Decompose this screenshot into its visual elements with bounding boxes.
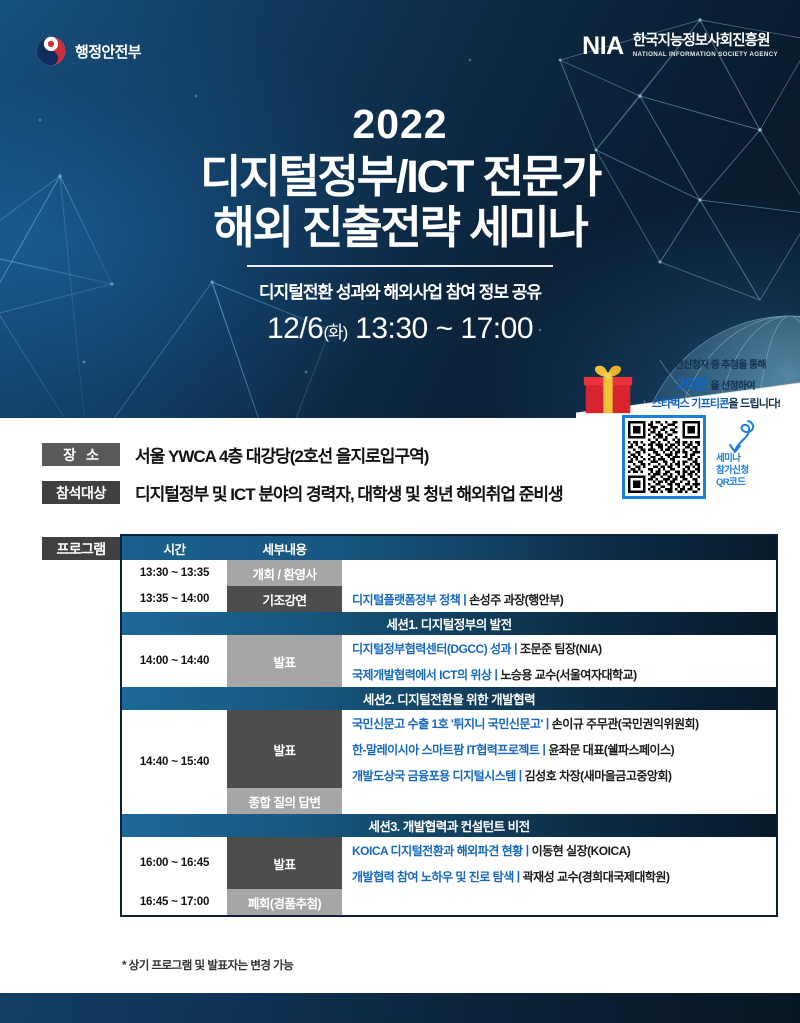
taeguk-icon: [36, 36, 66, 66]
speaker-name: 노승용 교수(서울여자대학교): [500, 666, 636, 683]
promo-line-3-rest: 을 드립니다!: [729, 398, 781, 410]
event-title-line1: 디지털정부/ICT 전문가: [0, 152, 800, 202]
cell-time: 16:45 ~ 17:00: [122, 889, 227, 915]
cell-time: 14:00 ~ 14:40: [122, 635, 227, 687]
session-title: 국제개발협력에서 ICT의 위상: [352, 666, 491, 683]
session-title: 개발협력 참여 노하우 및 진로 탐색: [352, 868, 514, 885]
audience-text: 디지털정부 및 ICT 분야의 경력자, 대학생 및 청년 해외취업 준비생: [135, 480, 563, 505]
cell-detail-empty: [342, 560, 776, 586]
nia-name-en: NATIONAL INFORMATION SOCIETY AGENCY: [633, 52, 778, 59]
cell-detail: 개발도상국 금융포용 디지털시스템|김성호 차장(새마을금고중앙회): [342, 762, 776, 788]
promo-count: 20분: [677, 376, 708, 393]
cell-detail: 개발협력 참여 노하우 및 진로 탐색|곽재성 교수(경희대국제대학원): [342, 863, 776, 889]
cell-time: 16:00 ~ 16:45: [122, 837, 227, 889]
table-row: 16:00 ~ 16:45발표KOICA 디지털전환과 해외파견 현황|이동현 …: [122, 837, 776, 889]
cell-time: 14:40 ~ 15:40: [122, 710, 227, 814]
seminar-poster: 행정안전부 NIA 한국지능정보사회진흥원 NATIONAL INFORMATI…: [0, 0, 800, 1023]
program-tag: 프로그램: [42, 537, 120, 560]
program-table-body: 13:30 ~ 13:35개회 / 환영사13:35 ~ 14:00기조강연디지…: [122, 560, 776, 915]
event-subtitle: 디지털전환 성과와 해외사업 참여 정보 공유: [0, 278, 800, 303]
cell-category: 폐회(경품추첨): [227, 889, 342, 915]
cell-detail-empty: [342, 889, 776, 915]
title-block: 2022 디지털정부/ICT 전문가 해외 진출전략 세미나 디지털전환 성과와…: [0, 104, 800, 346]
speaker-name: 손이규 주무관(국민권익위원회): [552, 715, 699, 732]
detail-separator: |: [519, 768, 522, 782]
qr-code-image: [628, 421, 700, 493]
curved-arrow-icon: [718, 417, 758, 455]
table-row: 14:40 ~ 15:40발표종합 질의 답변국민신문고 수출 1호 '튀지니 …: [122, 710, 776, 814]
nia-mark: NIA: [582, 34, 624, 59]
session-title: 국민신문고 수출 1호 '튀지니 국민신문고': [352, 715, 543, 732]
cell-detail: 한-말레이시아 스마트팜 IT협력프로젝트|윤좌문 대표(쉘파스페이스): [342, 736, 776, 762]
detail-separator: |: [526, 843, 529, 857]
table-row: 14:00 ~ 14:40발표디지털정부협력센터(DGCC) 성과|조문준 팀장…: [122, 635, 776, 687]
speaker-name: 김성호 차장(새마을금고중앙회): [525, 767, 672, 784]
detail-separator: |: [517, 869, 520, 883]
promo-line-2-rest: 을 선정하여: [710, 381, 755, 392]
promo-gift-name: 스타벅스 기프티콘: [652, 398, 729, 410]
promo-line-1: 사전신청자 중 추첨을 통해: [634, 359, 798, 372]
table-row: 13:30 ~ 13:35개회 / 환영사: [122, 560, 776, 586]
speaker-name: 윤좌문 대표(쉘파스페이스): [548, 741, 674, 758]
detail-separator: |: [514, 641, 517, 655]
cell-detail: KOICA 디지털전환과 해외파견 현황|이동현 실장(KOICA): [342, 837, 776, 863]
cell-detail-empty: [342, 788, 776, 814]
session-title: KOICA 디지털전환과 해외파견 현황: [352, 842, 523, 859]
speaker-name: 조문준 팀장(NIA): [520, 640, 602, 657]
promo-line-2: 20분 을 선정하여: [634, 374, 798, 395]
cell-category-secondary: 종합 질의 답변: [227, 788, 342, 814]
event-date: 12/6: [267, 312, 323, 345]
event-time-range: 13:30 ~ 17:00: [355, 312, 533, 345]
nia-name-kr: 한국지능정보사회진흥원: [633, 34, 778, 49]
session-title: 디지털정부협력센터(DGCC) 성과: [352, 640, 511, 657]
cell-time: 13:35 ~ 14:00: [122, 586, 227, 612]
qr-code[interactable]: [622, 415, 706, 499]
speaker-name: 손성주 과장(행안부): [469, 591, 563, 608]
column-header-time: 시간: [122, 536, 227, 560]
session-header: 세션2. 디지털전환을 위한 개발협력: [122, 687, 776, 710]
cell-category: 발표: [227, 837, 342, 889]
event-datetime: 12/6(화) 13:30 ~ 17:00: [0, 312, 800, 346]
qr-label-line2: 참가신청: [716, 465, 749, 477]
cell-category: 발표: [227, 710, 342, 788]
detail-separator: |: [494, 667, 497, 681]
program-note: * 상기 프로그램 및 발표자는 변경 가능: [122, 957, 293, 973]
session-title: 한-말레이시아 스마트팜 IT협력프로젝트: [352, 741, 539, 758]
cell-category: 기조강연: [227, 586, 342, 612]
table-row: 13:35 ~ 14:00기조강연디지털플랫폼정부 정책|손성주 과장(행안부): [122, 586, 776, 612]
gov-logo-label: 행정안전부: [75, 41, 141, 62]
event-day-of-week: (화): [323, 323, 347, 342]
session-header: 세션3. 개발협력과 컨설턴트 비전: [122, 814, 776, 837]
cell-detail: 디지털정부협력센터(DGCC) 성과|조문준 팀장(NIA): [342, 635, 776, 661]
cell-detail: 국제개발협력에서 ICT의 위상|노승용 교수(서울여자대학교): [342, 661, 776, 687]
cell-detail: 디지털플랫폼정부 정책|손성주 과장(행안부): [342, 586, 776, 612]
speaker-name: 곽재성 교수(경희대국제대학원): [523, 868, 670, 885]
detail-separator: |: [463, 592, 466, 606]
event-title-line2: 해외 진출전략 세미나: [0, 203, 800, 253]
detail-separator: |: [546, 716, 549, 730]
footer-bar: [0, 993, 800, 1023]
venue-tag: 장 소: [42, 443, 120, 466]
cell-category: 개회 / 환영사: [227, 560, 342, 586]
qr-label: 세미나 참가신청 QR코드: [716, 453, 749, 489]
detail-separator: |: [542, 742, 545, 756]
venue-text: 서울 YWCA 4층 대강당(2호선 을지로입구역): [135, 442, 428, 467]
nia-logo: NIA 한국지능정보사회진흥원 NATIONAL INFORMATION SOC…: [582, 34, 778, 59]
qr-label-line3: QR코드: [716, 477, 749, 489]
program-table: 시간 세부내용 13:30 ~ 13:35개회 / 환영사13:35 ~ 14:…: [120, 534, 778, 917]
program-table-header: 시간 세부내용: [122, 536, 776, 560]
speaker-name: 이동현 실장(KOICA): [532, 842, 631, 859]
column-header-detail: 세부내용: [227, 536, 342, 560]
table-row: 16:45 ~ 17:00폐회(경품추첨): [122, 889, 776, 915]
title-divider: [247, 265, 553, 267]
audience-tag: 참석대상: [42, 481, 120, 504]
gov-logo: 행정안전부: [36, 36, 141, 66]
promo-text: 사전신청자 중 추첨을 통해 20분 을 선정하여 스타벅스 기프티콘을 드립니…: [634, 359, 798, 412]
event-year: 2022: [0, 104, 800, 145]
promo-line-3: 스타벅스 기프티콘을 드립니다!: [634, 397, 798, 412]
cell-time: 13:30 ~ 13:35: [122, 560, 227, 586]
session-title: 디지털플랫폼정부 정책: [352, 591, 460, 608]
session-header: 세션1. 디지털정부의 발전: [122, 612, 776, 635]
gift-box-icon: [580, 363, 636, 415]
session-title: 개발도상국 금융포용 디지털시스템: [352, 767, 516, 784]
promo-panel: 사전신청자 중 추첨을 통해 20분 을 선정하여 스타벅스 기프티콘을 드립니…: [576, 355, 800, 525]
cell-category: 발표: [227, 635, 342, 687]
qr-label-line1: 세미나: [716, 453, 749, 465]
cell-detail: 국민신문고 수출 1호 '튀지니 국민신문고'|손이규 주무관(국민권익위원회): [342, 710, 776, 736]
